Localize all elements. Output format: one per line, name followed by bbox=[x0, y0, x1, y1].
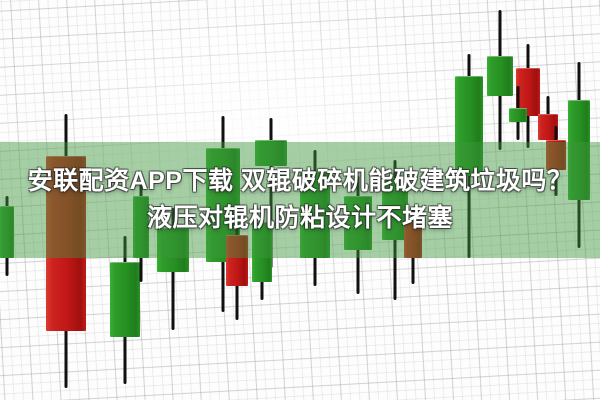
candle-body-down bbox=[46, 156, 86, 331]
candlestick-0 bbox=[46, 0, 86, 400]
candle-body-down bbox=[226, 235, 248, 286]
candlestick-13 bbox=[546, 0, 566, 400]
candlestick-17 bbox=[404, 0, 422, 400]
candlestick-15 bbox=[226, 0, 248, 400]
candle-body-up bbox=[0, 206, 14, 258]
candle-body-up bbox=[157, 228, 189, 272]
candlestick-banner-image: 安联配资APP下载 双辊破碎机能破建筑垃圾吗？ 液压对辊机防粘设计不堵塞 bbox=[0, 0, 600, 400]
candlestick-6 bbox=[344, 0, 372, 400]
candlestick-19 bbox=[0, 0, 14, 400]
candle-body-up bbox=[344, 196, 372, 250]
candle-body-down bbox=[546, 140, 566, 170]
candlestick-8 bbox=[455, 0, 483, 400]
candlestick-2 bbox=[157, 0, 189, 400]
candle-body-up bbox=[455, 76, 483, 176]
candlestick-16 bbox=[252, 0, 272, 400]
candle-body-down bbox=[404, 222, 422, 258]
candlestick-18 bbox=[133, 0, 149, 400]
candlestick-5 bbox=[300, 0, 330, 400]
candlestick-14 bbox=[568, 0, 590, 400]
candle-body-up bbox=[509, 108, 527, 122]
candle-body-up bbox=[300, 172, 330, 258]
candle-body-up bbox=[252, 222, 272, 282]
candlestick-11 bbox=[509, 0, 527, 400]
candle-body-up bbox=[568, 100, 590, 200]
candle-body-up bbox=[133, 196, 149, 258]
candlestick-chart bbox=[0, 0, 600, 400]
